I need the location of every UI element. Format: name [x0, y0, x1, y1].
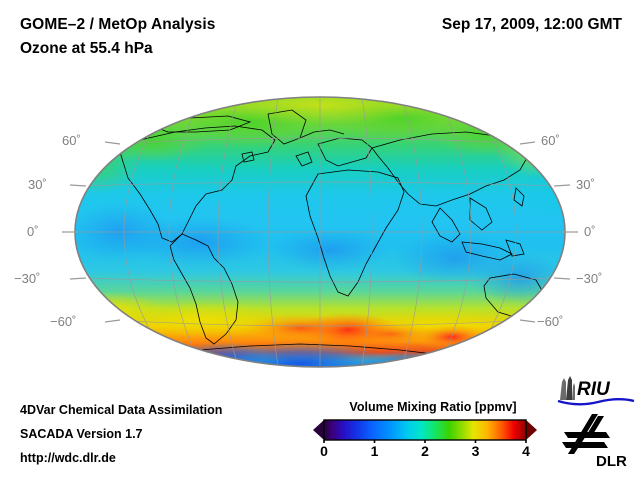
footer-version-label: SACADA Version 1.7 — [20, 427, 143, 441]
ozone-map: 60˚ 30˚ 0˚ −30˚ −60˚ 60˚ 30˚ 0˚ −30˚ −60… — [0, 82, 640, 382]
lat-label-right-30: 30˚ — [576, 177, 595, 192]
footer-method-label: 4DVar Chemical Data Assimilation — [20, 403, 222, 417]
colorbar-tick-2: 2 — [421, 443, 429, 459]
colorbar-tick-4: 4 — [522, 443, 530, 459]
colorbar-title: Volume Mixing Ratio [ppmv] — [330, 400, 536, 414]
colorbar-right-arrow — [526, 420, 537, 440]
colorbar-tick-3: 3 — [472, 443, 480, 459]
colorbar-svg — [311, 417, 539, 443]
lat-label-right-minus60: −60˚ — [537, 314, 563, 329]
colorbar-tick-labels: 0 1 2 3 4 — [311, 443, 539, 463]
riu-logo-text: RIU — [577, 379, 611, 400]
visualization-page: GOME–2 / MetOp Analysis Ozone at 55.4 hP… — [0, 0, 640, 480]
colorbar-tick-0: 0 — [320, 443, 328, 459]
colorbar-tick-1: 1 — [371, 443, 379, 459]
riu-logo-svg: RIU — [556, 374, 636, 408]
lat-label-right-minus30: −30˚ — [576, 271, 602, 286]
ozone-field — [50, 84, 600, 382]
colorbar-gradient — [324, 420, 526, 440]
lat-label-right-60: 60˚ — [541, 133, 560, 148]
lat-label-left-60: 60˚ — [62, 133, 81, 148]
lat-label-right-0: 0˚ — [584, 224, 596, 239]
lat-label-left-30: 30˚ — [28, 177, 47, 192]
riu-logo: RIU — [556, 374, 636, 408]
dlr-logo-svg: DLR — [558, 412, 634, 470]
lat-label-left-0: 0˚ — [27, 224, 39, 239]
page-subtitle: Ozone at 55.4 hPa — [20, 40, 153, 58]
colorbar — [311, 417, 539, 443]
lat-label-left-minus60: −60˚ — [50, 314, 76, 329]
footer-url-link[interactable]: http://wdc.dlr.de — [20, 451, 116, 465]
colorbar-left-arrow — [313, 420, 324, 440]
dlr-logo: DLR — [558, 412, 634, 470]
timestamp-label: Sep 17, 2009, 12:00 GMT — [442, 16, 622, 34]
page-title: GOME–2 / MetOp Analysis — [20, 16, 216, 34]
riu-spires-icon — [560, 376, 575, 400]
mollweide-map-svg — [0, 82, 640, 382]
dlr-logo-text: DLR — [596, 453, 627, 470]
lat-label-left-minus30: −30˚ — [14, 271, 40, 286]
dlr-mark-icon — [562, 414, 610, 454]
